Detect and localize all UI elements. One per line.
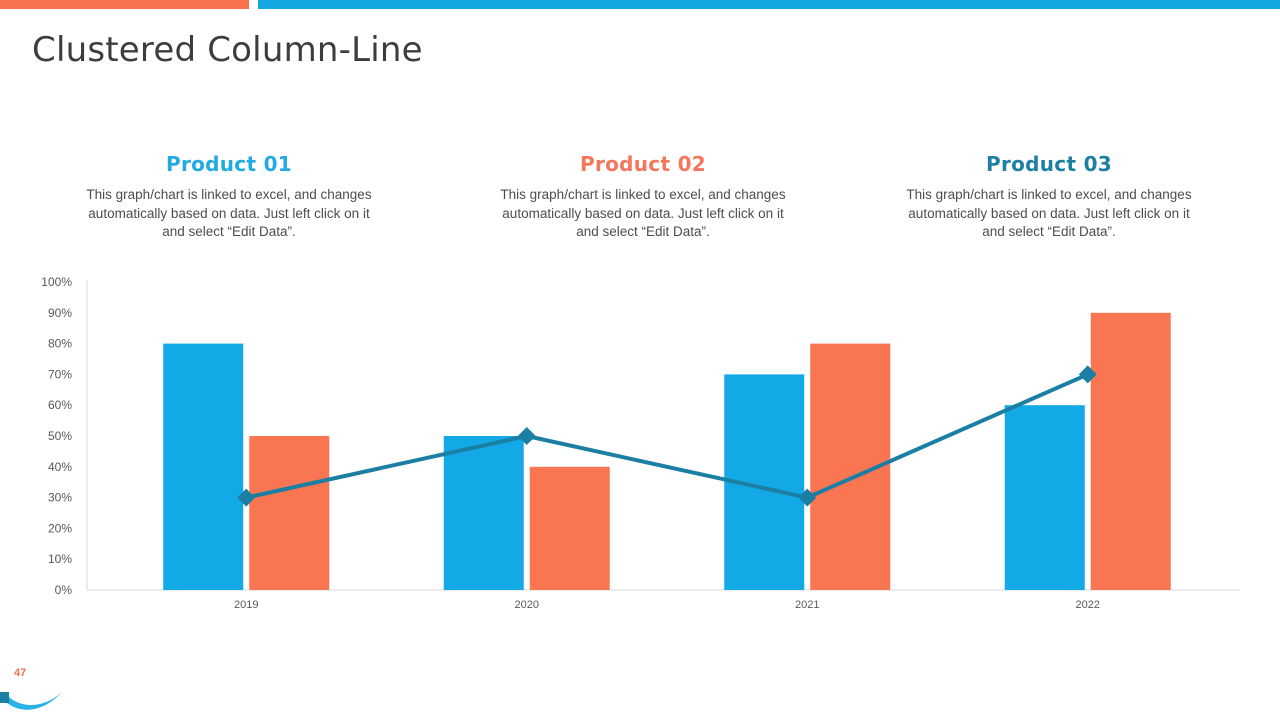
product-3-title: Product 03 — [896, 152, 1202, 176]
x-axis-tick-labels: 2019202020212022 — [234, 599, 1100, 611]
bar[interactable] — [1091, 313, 1171, 590]
x-axis-tick-label: 2021 — [795, 599, 819, 611]
y-axis-tick-label: 30% — [48, 491, 72, 505]
page-title: Clustered Column-Line — [32, 30, 423, 70]
x-axis-tick-label: 2020 — [515, 599, 539, 611]
y-axis-tick-label: 60% — [48, 398, 72, 412]
line-series-markers — [237, 365, 1097, 506]
y-axis-tick-label: 100% — [41, 275, 72, 289]
bar[interactable] — [444, 436, 524, 590]
product-2-title: Product 02 — [490, 152, 796, 176]
product-columns: Product 01 This graph/chart is linked to… — [0, 152, 1280, 242]
page-number: 47 — [14, 667, 26, 679]
clustered-column-line-chart[interactable]: 100%90%80%70%60%50%40%30%20%10%0% 201920… — [0, 272, 1280, 612]
product-column-1: Product 01 This graph/chart is linked to… — [76, 152, 382, 242]
bar[interactable] — [530, 467, 610, 590]
y-axis-tick-labels: 100%90%80%70%60%50%40%30%20%10%0% — [41, 275, 72, 597]
bar[interactable] — [1005, 405, 1085, 590]
slide-root: Clustered Column-Line Product 01 This gr… — [0, 0, 1280, 720]
chart-canvas: 100%90%80%70%60%50%40%30%20%10%0% 201920… — [0, 272, 1280, 612]
y-axis-tick-label: 10% — [48, 552, 72, 566]
y-axis-tick-label: 50% — [48, 429, 72, 443]
line-series-product-03 — [246, 374, 1088, 497]
y-axis-tick-label: 0% — [55, 583, 73, 597]
bar[interactable] — [249, 436, 329, 590]
product-2-description: This graph/chart is linked to excel, and… — [490, 186, 796, 242]
y-axis-tick-label: 40% — [48, 460, 72, 474]
x-axis-tick-label: 2019 — [234, 599, 258, 611]
product-1-description: This graph/chart is linked to excel, and… — [76, 186, 382, 242]
y-axis-tick-label: 70% — [48, 367, 72, 381]
bar[interactable] — [163, 344, 243, 590]
product-1-title: Product 01 — [76, 152, 382, 176]
x-axis-tick-label: 2022 — [1076, 599, 1100, 611]
top-accent-bar-orange — [0, 0, 249, 9]
top-accent-bar-blue — [258, 0, 1280, 9]
y-axis-tick-label: 90% — [48, 306, 72, 320]
footer-logo-icon — [0, 690, 78, 720]
y-axis-tick-label: 20% — [48, 521, 72, 535]
product-3-description: This graph/chart is linked to excel, and… — [896, 186, 1202, 242]
y-axis-tick-label: 80% — [48, 337, 72, 351]
product-column-3: Product 03 This graph/chart is linked to… — [896, 152, 1202, 242]
product-column-2: Product 02 This graph/chart is linked to… — [490, 152, 796, 242]
